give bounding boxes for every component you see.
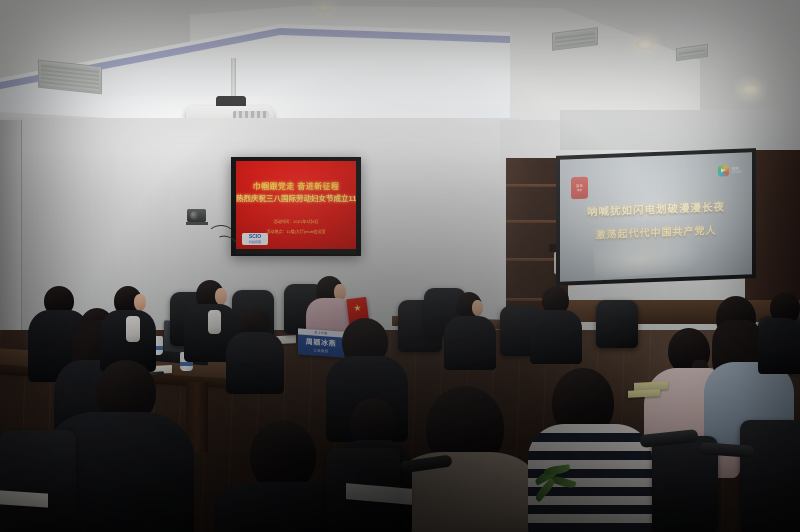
office-chair[interactable] [0, 430, 76, 532]
potted-plant [530, 452, 600, 522]
torso [530, 310, 582, 364]
downlight-icon [318, 4, 332, 12]
banner-headline-2: 热烈庆祝三八国际劳动妇女节成立111周年 [236, 193, 356, 204]
banner-headline-1: 巾帼跟党走 奋进新征程 [236, 181, 356, 192]
collar [208, 310, 221, 334]
vent-louvers [41, 63, 99, 91]
banner-logo-subtext: 科技有限 [249, 240, 261, 244]
meeting-room-photo: 巾帼跟党走 奋进新征程 热烈庆祝三八国际劳动妇女节成立111周年 活动时间：20… [0, 0, 800, 532]
face [472, 300, 483, 316]
collar [126, 316, 140, 342]
left-wall-return [0, 120, 22, 360]
projection-screen[interactable]: 百年 党史 视频 在线播放 呐喊犹如闪电划破漫漫长夜 激荡起代代中国共产党人 纪… [560, 152, 752, 281]
player-subtext: 在线播放 [732, 171, 742, 175]
wall-corner [21, 120, 22, 360]
vent-louvers [679, 47, 705, 58]
downlight-icon [742, 84, 760, 95]
face [215, 288, 227, 305]
torso [758, 318, 800, 374]
torso [226, 332, 284, 394]
screen-program-badge: 百年 党史 [571, 177, 588, 200]
downlight-icon [636, 39, 654, 50]
badge-subtitle: 党史 [577, 188, 582, 192]
play-button-icon [718, 165, 729, 176]
right-wall-upper [560, 110, 800, 150]
name-placard: 员工代表 周颖冰燕 工会委员 [298, 328, 344, 357]
led-display-bezel [236, 249, 356, 254]
office-chair[interactable] [740, 420, 800, 532]
torso [444, 316, 496, 370]
camera-lens-icon [190, 211, 199, 220]
video-player-watermark: 视频 在线播放 [718, 165, 742, 177]
led-banner-screen[interactable]: 巾帼跟党走 奋进新征程 热烈庆祝三八国际劳动妇女节成立111周年 活动时间：20… [236, 161, 356, 249]
office-chair[interactable] [596, 300, 638, 348]
camera-bracket [186, 222, 208, 225]
emblem-icon: ★ [352, 302, 363, 313]
face [134, 294, 146, 311]
banner-subtext-1: 活动时间：2021年3月8日 [236, 219, 356, 225]
vent-louvers [555, 31, 595, 48]
banner-logo: SCIO 科技有限 [242, 233, 268, 245]
